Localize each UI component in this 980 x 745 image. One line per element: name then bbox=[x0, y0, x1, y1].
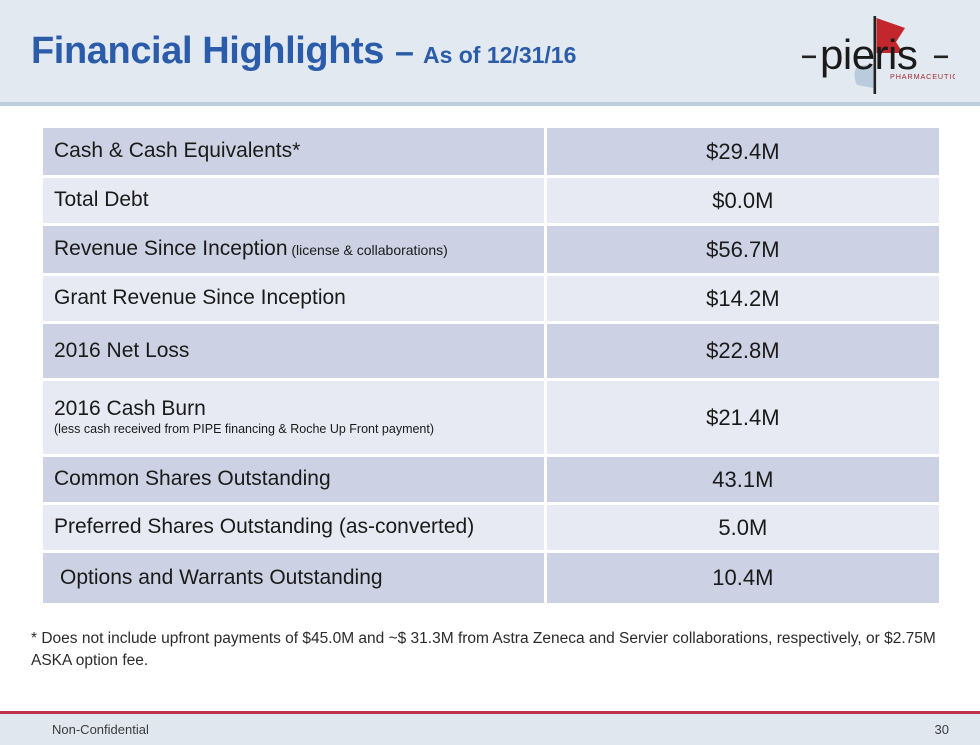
table-row: 2016 Cash Burn (less cash received from … bbox=[43, 381, 939, 457]
row-label-cell: Common Shares Outstanding bbox=[43, 457, 547, 505]
row-value: $22.8M bbox=[706, 338, 779, 363]
row-value-cell: $22.8M bbox=[547, 324, 939, 381]
row-label: Total Debt bbox=[54, 188, 149, 211]
row-label: Grant Revenue Since Inception bbox=[54, 286, 346, 309]
table-row: Total Debt $0.0M bbox=[43, 178, 939, 226]
row-value: 10.4M bbox=[712, 565, 773, 590]
pieris-logo: pieris PHARMACEUTICALS bbox=[795, 12, 955, 98]
table-row: Common Shares Outstanding 43.1M bbox=[43, 457, 939, 505]
row-value-cell: $0.0M bbox=[547, 178, 939, 226]
row-label: Common Shares Outstanding bbox=[54, 467, 331, 490]
row-value: $29.4M bbox=[706, 139, 779, 164]
row-label-cell: Options and Warrants Outstanding bbox=[43, 553, 547, 603]
row-value-cell: $29.4M bbox=[547, 128, 939, 178]
page-title-main: Financial Highlights bbox=[31, 30, 384, 73]
svg-text:PHARMACEUTICALS: PHARMACEUTICALS bbox=[890, 72, 955, 81]
row-label-note: (license & collaborations) bbox=[288, 242, 448, 258]
financial-highlights-table: Cash & Cash Equivalents* $29.4M Total De… bbox=[43, 128, 939, 603]
footer-page-number: 30 bbox=[935, 722, 949, 737]
row-label: 2016 Cash Burn bbox=[54, 397, 206, 420]
row-value: $56.7M bbox=[706, 237, 779, 262]
row-label-cell: Revenue Since Inception (license & colla… bbox=[43, 226, 547, 276]
page-title: Financial Highlights – As of 12/31/16 bbox=[31, 30, 576, 73]
pieris-logo-icon: pieris PHARMACEUTICALS bbox=[795, 12, 955, 98]
row-label-cell: Grant Revenue Since Inception bbox=[43, 276, 547, 324]
row-value-cell: 43.1M bbox=[547, 457, 939, 505]
row-value-cell: 5.0M bbox=[547, 505, 939, 553]
table-row: Preferred Shares Outstanding (as-convert… bbox=[43, 505, 939, 553]
table-row: Revenue Since Inception (license & colla… bbox=[43, 226, 939, 276]
table-row: Options and Warrants Outstanding 10.4M bbox=[43, 553, 939, 603]
row-label: Revenue Since Inception bbox=[54, 237, 288, 260]
svg-text:pieris: pieris bbox=[820, 31, 917, 78]
row-value-cell: $14.2M bbox=[547, 276, 939, 324]
row-label-cell: Total Debt bbox=[43, 178, 547, 226]
row-label: 2016 Net Loss bbox=[54, 339, 189, 362]
row-label-cell: Preferred Shares Outstanding (as-convert… bbox=[43, 505, 547, 553]
row-label: Options and Warrants Outstanding bbox=[60, 566, 383, 589]
table-row: 2016 Net Loss $22.8M bbox=[43, 324, 939, 381]
row-label: Preferred Shares Outstanding (as-convert… bbox=[54, 515, 474, 538]
row-label: Cash & Cash Equivalents* bbox=[54, 139, 300, 162]
table-body: Cash & Cash Equivalents* $29.4M Total De… bbox=[43, 128, 939, 603]
row-value-cell: 10.4M bbox=[547, 553, 939, 603]
slide: Financial Highlights – As of 12/31/16 pi… bbox=[0, 0, 980, 745]
row-value: $21.4M bbox=[706, 405, 779, 430]
title-dash: – bbox=[395, 33, 414, 72]
row-value: $0.0M bbox=[712, 188, 773, 213]
row-value: 43.1M bbox=[712, 467, 773, 492]
table-row: Grant Revenue Since Inception $14.2M bbox=[43, 276, 939, 324]
row-value-cell: $56.7M bbox=[547, 226, 939, 276]
page-title-subtitle: As of 12/31/16 bbox=[423, 42, 576, 69]
row-value-cell: $21.4M bbox=[547, 381, 939, 457]
footer-confidentiality-label: Non-Confidential bbox=[52, 722, 149, 737]
table-row: Cash & Cash Equivalents* $29.4M bbox=[43, 128, 939, 178]
row-label-cell: 2016 Cash Burn (less cash received from … bbox=[43, 381, 547, 457]
row-label-cell: 2016 Net Loss bbox=[43, 324, 547, 381]
row-label-cell: Cash & Cash Equivalents* bbox=[43, 128, 547, 178]
row-value: $14.2M bbox=[706, 286, 779, 311]
row-value: 5.0M bbox=[718, 515, 767, 540]
footnote-text: * Does not include upfront payments of $… bbox=[31, 628, 956, 673]
row-label-subline: (less cash received from PIPE financing … bbox=[54, 422, 534, 438]
